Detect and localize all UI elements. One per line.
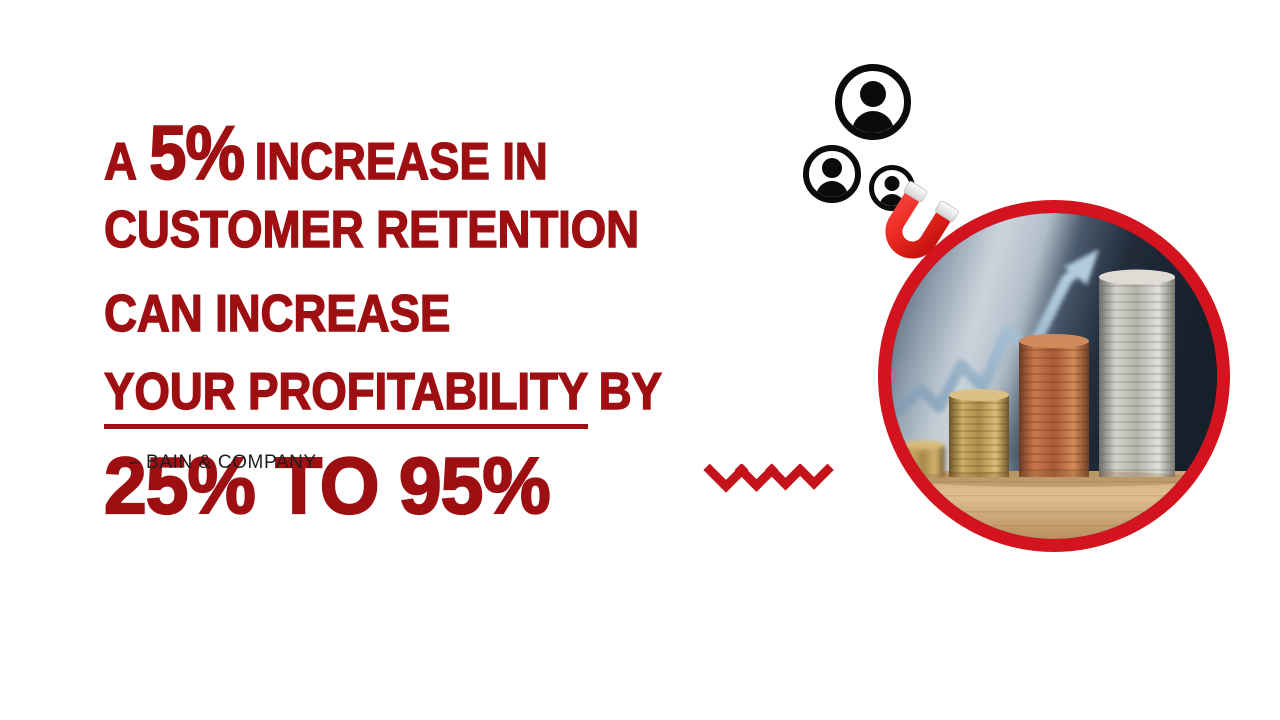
avatar-body-shape: [816, 181, 848, 203]
headline-line-2: CUSTOMER RETENTION: [104, 204, 639, 256]
coin-stack-3: [1019, 334, 1089, 477]
chevron-arrow-group: [708, 446, 840, 494]
photo-clip: [891, 213, 1217, 539]
slide-canvas: A5%INCREASE IN CUSTOMER RETENTION CAN IN…: [0, 0, 1280, 720]
coin-shadow: [904, 471, 1204, 487]
headline-emphasis-5-percent: 5%: [149, 116, 244, 192]
source-attribution: – BAIN & COMPANY: [129, 452, 317, 474]
person-avatar-icon-large: [835, 64, 911, 140]
headline-line-1-rest: INCREASE IN: [255, 136, 548, 188]
coin-stacks-growth-photo: [878, 200, 1230, 552]
headline-underlined-phrase: YOUR PROFITABILITY: [104, 363, 588, 429]
avatar-body-shape: [852, 111, 894, 140]
headline-line-1: A5%INCREASE IN: [104, 116, 548, 192]
chevron-right-icon-4: [794, 450, 834, 490]
headline-line-4-trailing: BY: [599, 363, 662, 421]
avatar-head-shape: [822, 158, 842, 178]
headline-line-3: CAN INCREASE: [104, 288, 450, 340]
headline-line-4: YOUR PROFITABILITYBY: [104, 366, 662, 418]
photo-illustration: [891, 213, 1217, 539]
coin-stack-2: [949, 389, 1009, 477]
coin-stack-4: [1099, 270, 1175, 478]
headline-line-1-lead: A: [104, 136, 137, 188]
coin-stack-1: [901, 440, 945, 477]
avatar-head-shape: [860, 81, 886, 107]
person-avatar-icon-medium: [803, 145, 861, 203]
